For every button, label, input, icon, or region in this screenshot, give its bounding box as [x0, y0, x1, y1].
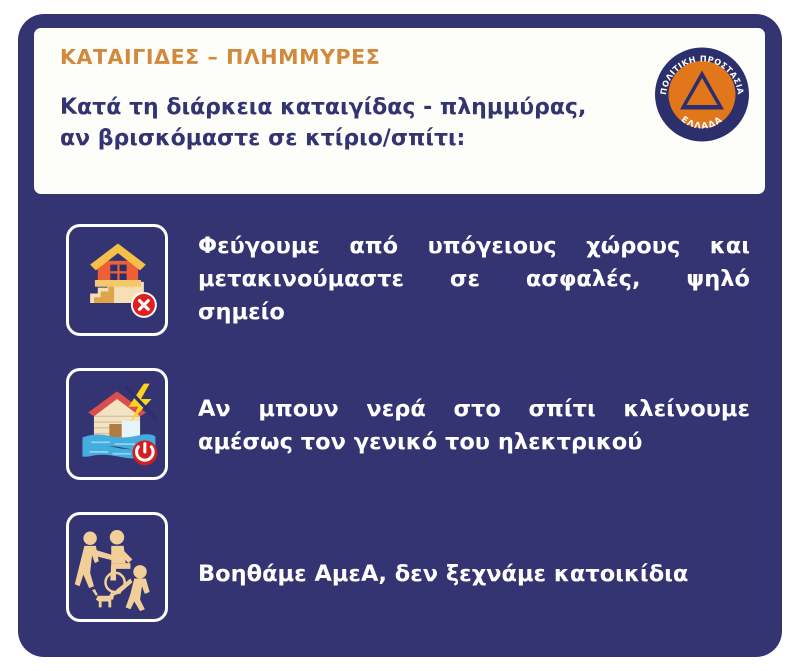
advice-line: μετακινούμαστε σε ασφαλές, ψηλό: [198, 263, 750, 296]
flooded-house-power-off-icon: [66, 368, 168, 480]
advice-list: Φεύγουμε από υπόγειους χώρους και μετακι…: [0, 0, 800, 671]
storm-flood-safety-infographic: ΚΑΤΑΙΓΙΔΕΣ – ΠΛΗΜΜΥΡΕΣ Κατά τη διάρκεια …: [0, 0, 800, 671]
advice-line: σημείο: [198, 296, 750, 329]
advice-line: Βοηθάμε ΑμεΑ, δεν ξεχνάμε κατοικίδια: [198, 558, 750, 591]
advice-row: Βοηθάμε ΑμεΑ, δεν ξεχνάμε κατοικίδια: [66, 512, 750, 622]
help-disabled-and-pets-icon: [66, 512, 168, 622]
advice-row: Αν μπουν νερά στο σπίτι κλείνουμε αμέσως…: [66, 368, 750, 480]
flooded-basement-house-prohibited-icon: [66, 224, 168, 336]
advice-row: Φεύγουμε από υπόγειους χώρους και μετακι…: [66, 224, 750, 336]
advice-line: Φεύγουμε από υπόγειους χώρους και: [198, 230, 750, 263]
advice-line: αμέσως τον γενικό του ηλεκτρικού: [198, 426, 750, 459]
advice-line: Αν μπουν νερά στο σπίτι κλείνουμε: [198, 393, 750, 426]
advice-text: Φεύγουμε από υπόγειους χώρους και μετακι…: [198, 224, 750, 329]
advice-text: Βοηθάμε ΑμεΑ, δεν ξεχνάμε κατοικίδια: [198, 512, 750, 591]
advice-text: Αν μπουν νερά στο σπίτι κλείνουμε αμέσως…: [198, 368, 750, 459]
